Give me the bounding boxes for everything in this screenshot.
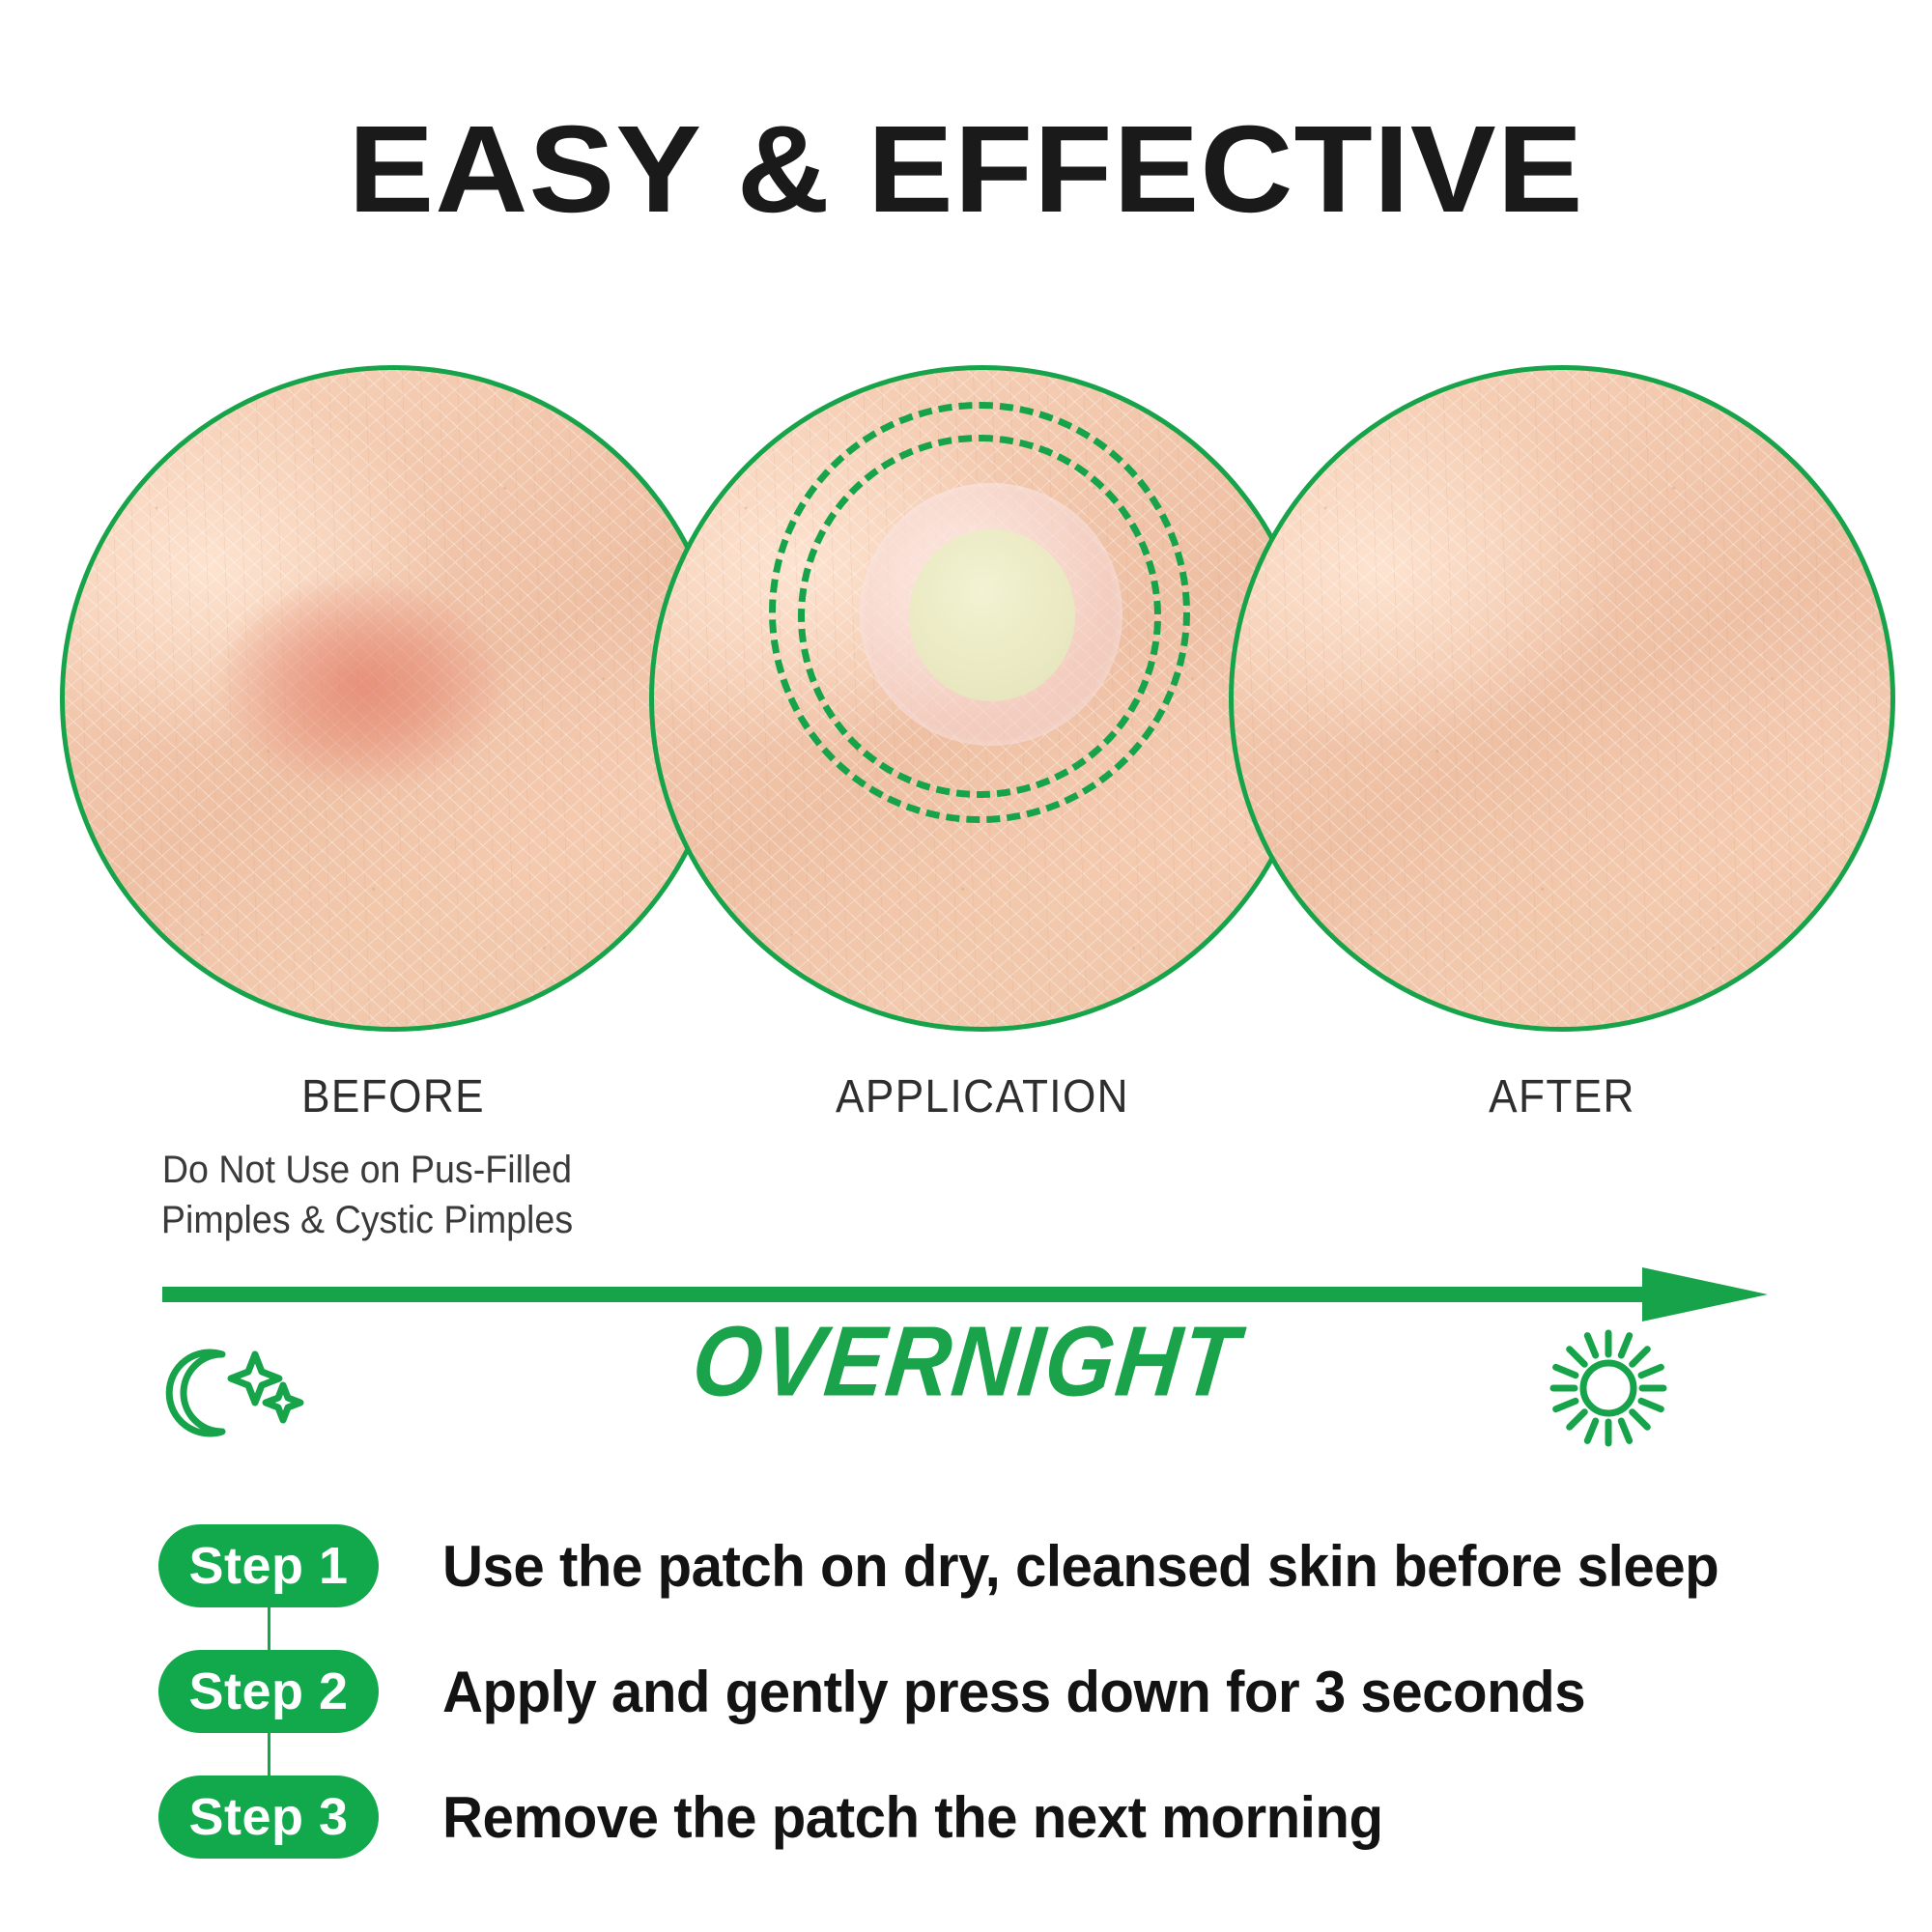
stage-label-after: AFTER (1256, 1070, 1869, 1123)
stage-before (60, 365, 726, 1032)
skin-circle-after-icon (1229, 365, 1895, 1032)
step-badge-1[interactable]: Step 1 (158, 1524, 379, 1607)
step-row: Step 1 Use the patch on dry, cleansed sk… (0, 1517, 1932, 1642)
warning-note: Do Not Use on Pus-Filled Pimples & Cysti… (76, 1145, 658, 1245)
step-text-3: Remove the patch the next morning (442, 1776, 1383, 1859)
warning-line-2: Pimples & Cystic Pimples (76, 1195, 658, 1245)
patch-inner-icon (909, 529, 1075, 701)
stage-label-before: BEFORE (87, 1070, 700, 1123)
overnight-label: OVERNIGHT (0, 1306, 1932, 1420)
stages-row (0, 365, 1932, 1041)
step-row: Step 3 Remove the patch the next morning (0, 1768, 1932, 1893)
page-title: EASY & EFFECTIVE (0, 108, 1932, 232)
step-text-2: Apply and gently press down for 3 second… (442, 1650, 1585, 1733)
stage-label-application: APPLICATION (676, 1070, 1290, 1123)
skin-circle-before-icon (60, 365, 726, 1032)
step-badge-2[interactable]: Step 2 (158, 1650, 379, 1733)
stage-after (1229, 365, 1895, 1032)
step-row: Step 2 Apply and gently press down for 3… (0, 1642, 1932, 1768)
pimple-blemish-icon (222, 581, 502, 788)
step-text-1: Use the patch on dry, cleansed skin befo… (442, 1524, 1719, 1607)
stage-application (649, 365, 1316, 1032)
overnight-timeline: OVERNIGHT (0, 1256, 1932, 1497)
step-badge-3[interactable]: Step 3 (158, 1776, 379, 1859)
steps-list: Step 1 Use the patch on dry, cleansed sk… (0, 1517, 1932, 1893)
warning-line-1: Do Not Use on Pus-Filled (76, 1145, 658, 1195)
